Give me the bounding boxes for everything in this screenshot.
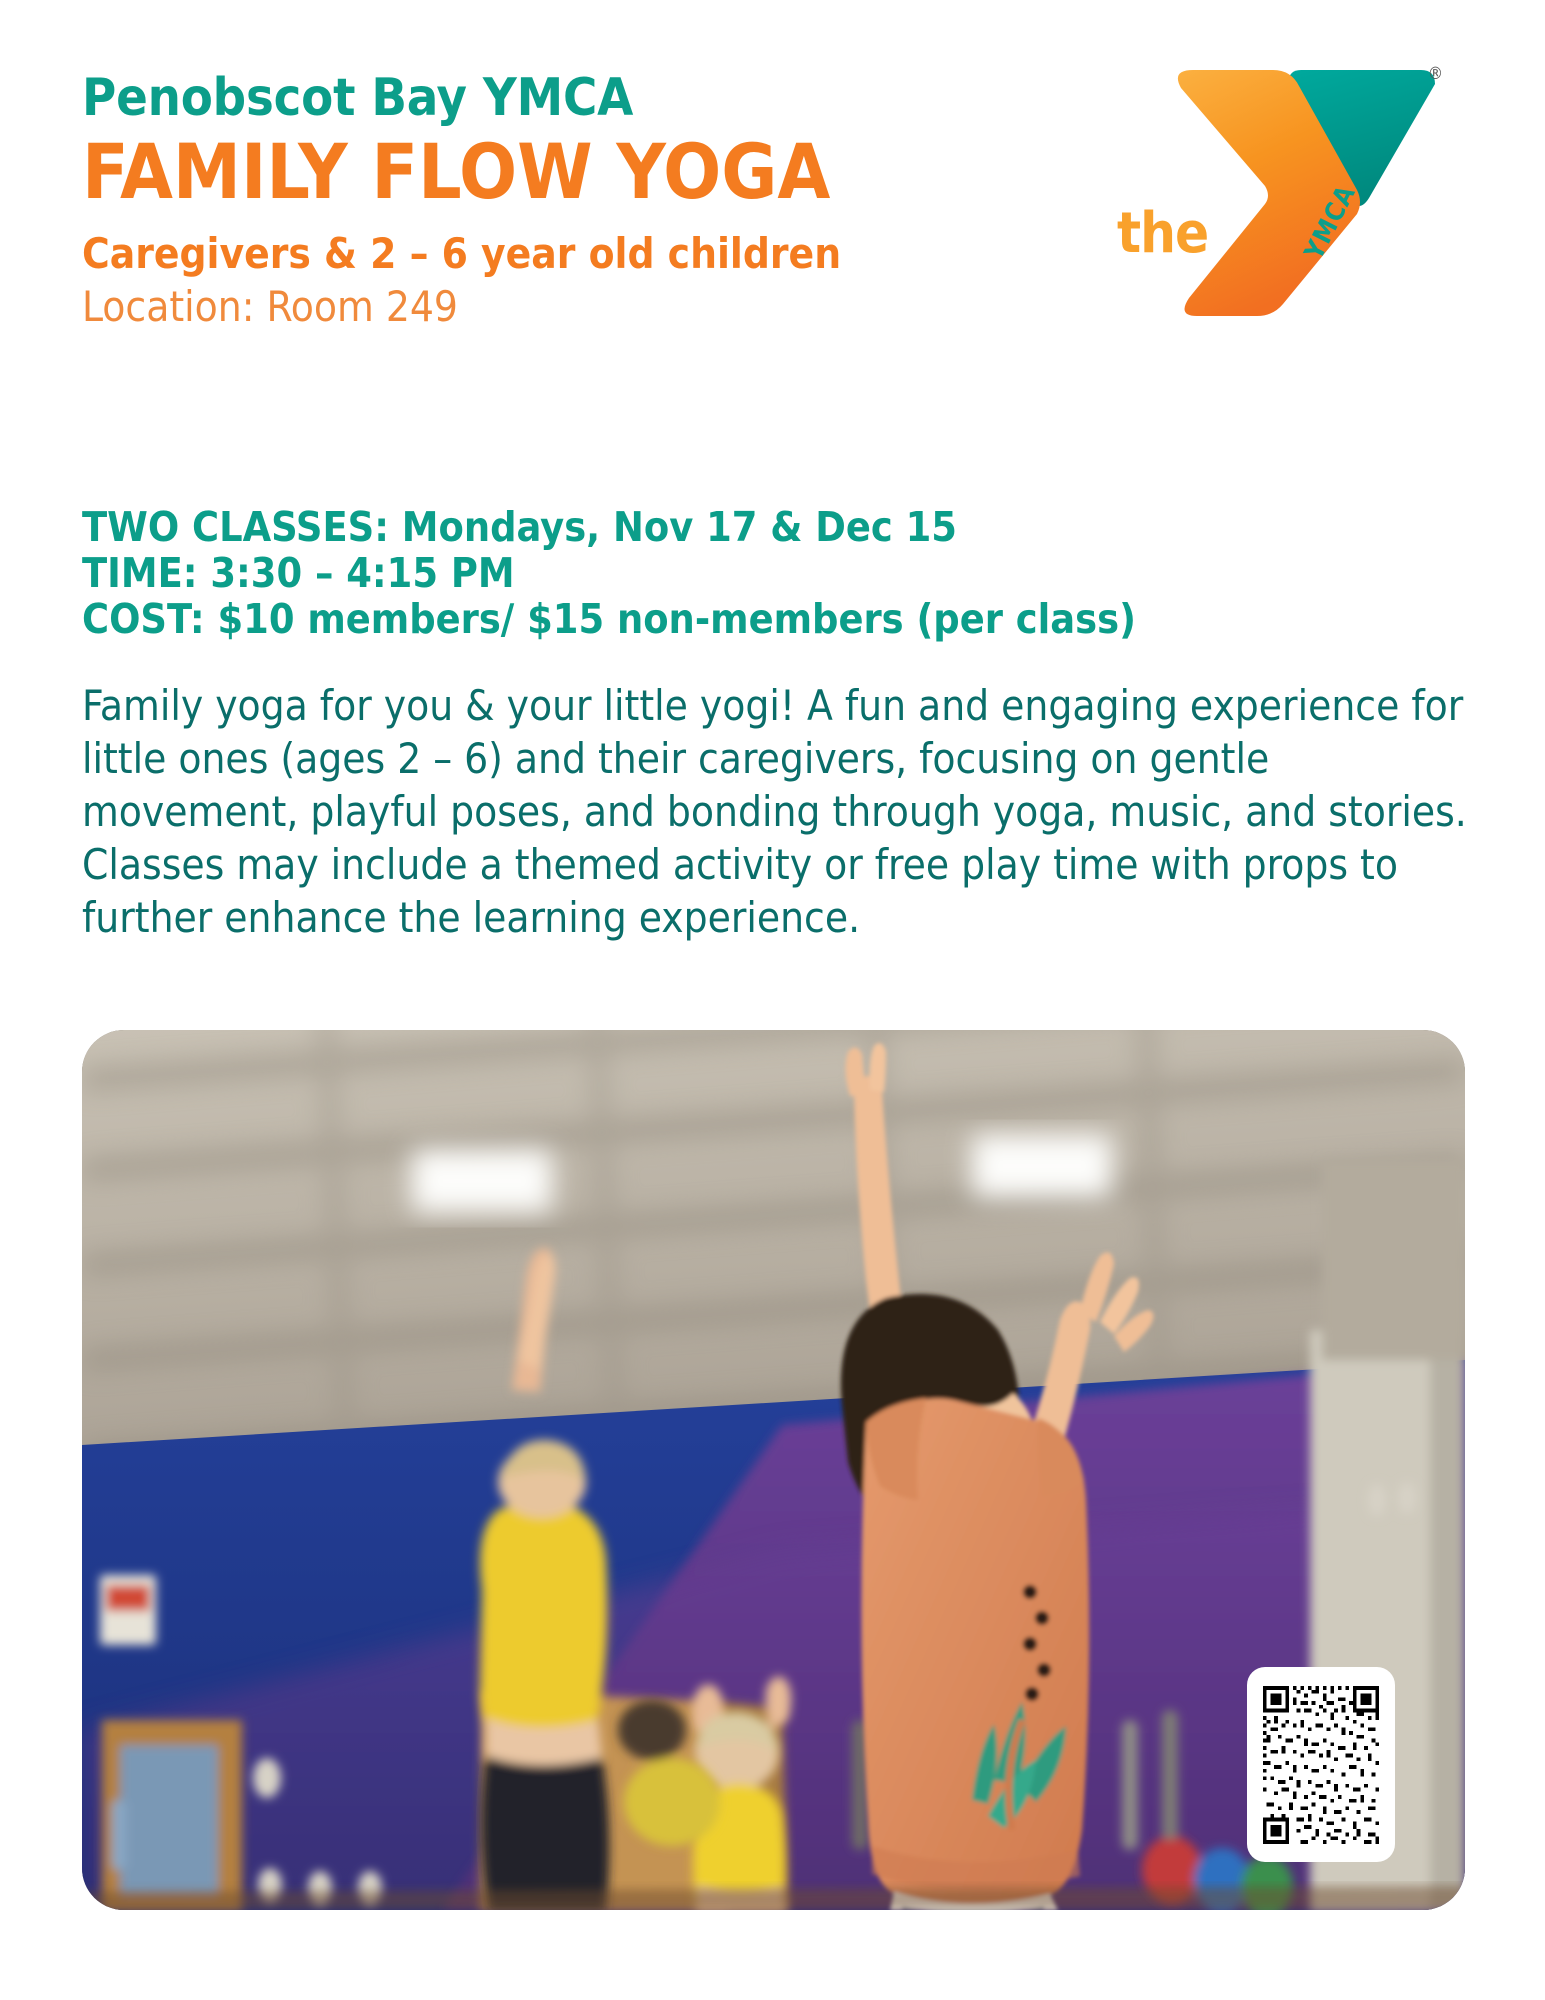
detail-cost: COST: $10 members/ $15 non-members (per … bbox=[82, 597, 1422, 643]
registered-trademark-icon: ® bbox=[1428, 66, 1443, 83]
logo-the-text: the bbox=[1117, 206, 1208, 262]
program-title: FAMILY FLOW YOGA bbox=[82, 134, 1102, 210]
header-block: Penobscot Bay YMCA FAMILY FLOW YOGA Care… bbox=[82, 72, 1102, 356]
flyer-page: Penobscot Bay YMCA FAMILY FLOW YOGA Care… bbox=[0, 0, 1545, 2000]
yoga-class-photo bbox=[82, 1030, 1465, 1910]
location-line: Location: Room 249 bbox=[82, 284, 1102, 330]
qr-code[interactable] bbox=[1259, 1681, 1383, 1849]
ymca-logo: the ® YMCA bbox=[1105, 58, 1445, 318]
detail-classes: TWO CLASSES: Mondays, Nov 17 & Dec 15 bbox=[82, 505, 1422, 551]
audience-line: Caregivers & 2 – 6 year old children bbox=[82, 232, 1102, 276]
class-details: TWO CLASSES: Mondays, Nov 17 & Dec 15 TI… bbox=[82, 505, 1422, 643]
qr-code-card[interactable] bbox=[1247, 1667, 1395, 1862]
program-description: Family yoga for you & your little yogi! … bbox=[82, 680, 1472, 945]
organization-name: Penobscot Bay YMCA bbox=[82, 72, 1102, 124]
detail-time: TIME: 3:30 – 4:15 PM bbox=[82, 551, 1422, 597]
ymca-logo-mark bbox=[1105, 58, 1445, 318]
